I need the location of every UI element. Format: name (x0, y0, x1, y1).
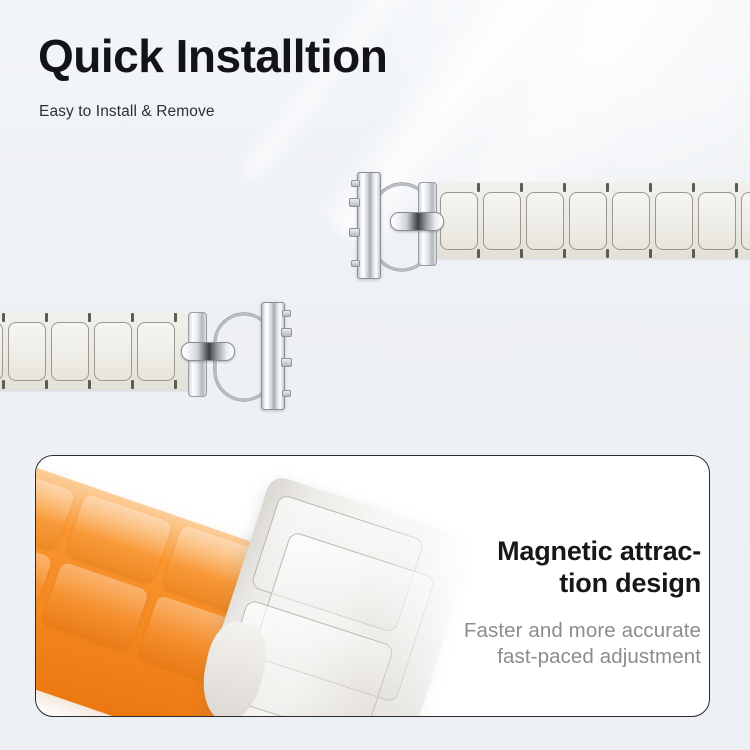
feature-subtitle-line2: fast-paced adjustment (371, 644, 701, 671)
band-notch (131, 380, 134, 389)
feature-title-line2: tion design (371, 568, 701, 600)
band-notch (88, 313, 91, 322)
clasp-lug-pin (282, 390, 291, 397)
product-marketing-image: Quick Installtion Easy to Install & Remo… (0, 0, 750, 750)
band-notch (174, 313, 177, 322)
feature-title: Magnetic attrac- tion design (371, 536, 701, 600)
band-notch (174, 380, 177, 389)
band-link (137, 322, 175, 381)
band-link (51, 322, 89, 381)
feature-title-line1: Magnetic attrac- (371, 536, 701, 568)
feature-subtitle: Faster and more accurate fast-paced adju… (371, 618, 701, 671)
clasp-lug-pin (281, 328, 292, 337)
band-link (0, 322, 3, 381)
band-notch (45, 313, 48, 322)
band-link (8, 322, 46, 381)
band-notch (131, 313, 134, 322)
band-notch (45, 380, 48, 389)
watch-band-lower (0, 0, 750, 430)
band-notch (2, 313, 5, 322)
band-notch (88, 380, 91, 389)
clasp-lug-pin (282, 310, 291, 317)
clasp-pin-bar (181, 342, 235, 361)
band-notch (2, 380, 5, 389)
band-link (94, 322, 132, 381)
feature-text-block: Magnetic attrac- tion design Faster and … (371, 536, 701, 671)
clasp-lug-pin (281, 358, 292, 367)
feature-panel: Magnetic attrac- tion design Faster and … (35, 455, 710, 717)
feature-subtitle-line1: Faster and more accurate (371, 618, 701, 645)
